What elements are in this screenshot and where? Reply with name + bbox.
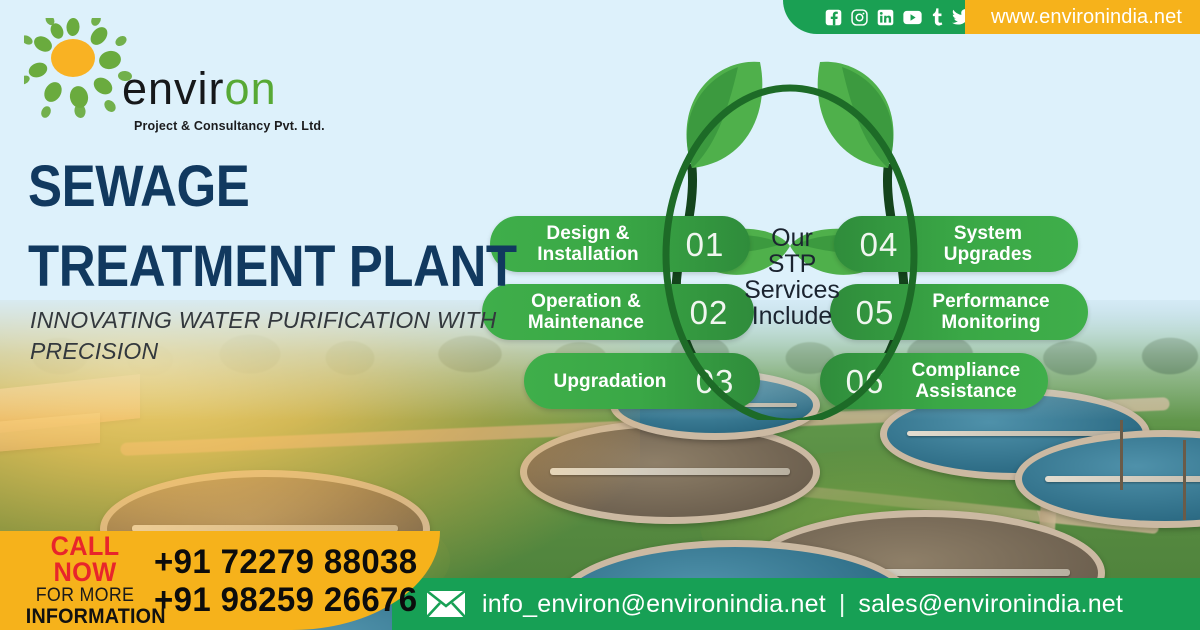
phone-number-1[interactable]: +91 72279 88038 — [154, 543, 418, 581]
page-subtitle: INNOVATING WATER PURIFICATION WITH PRECI… — [30, 305, 500, 367]
photo-utility-pole — [1183, 440, 1186, 520]
service-item-06[interactable]: 06 Compliance Assistance — [820, 353, 1048, 409]
email-bar: info_environ@environindia.net | sales@en… — [392, 578, 1200, 630]
service-label-03: Upgradation — [538, 371, 682, 392]
for-more-label: FOR MORE — [26, 585, 144, 606]
banner-root: www.environindia.net — [0, 0, 1200, 630]
page-title: SEWAGE TREATMENT PLANT — [28, 158, 583, 296]
topbar: www.environindia.net — [783, 0, 1200, 34]
brand-logo[interactable]: environ Project & Consultancy Pvt. Ltd. — [24, 18, 294, 133]
website-url[interactable]: www.environindia.net — [965, 0, 1200, 34]
service-item-04[interactable]: 04 System Upgrades — [834, 216, 1078, 272]
email-address-2[interactable]: sales@environindia.net — [858, 590, 1123, 619]
website-url-text: www.environindia.net — [991, 6, 1182, 29]
service-number-06: 06 — [832, 365, 898, 398]
call-now-block: CALL NOW FOR MORE INFORMATION +91 72279 … — [0, 531, 440, 630]
social-links — [783, 0, 989, 34]
call-now-label: CALL NOW — [26, 533, 144, 585]
information-label: INFORMATION — [26, 606, 144, 628]
phone-numbers: +91 72279 88038 +91 98259 26676 — [154, 543, 426, 619]
page-title-line2: TREATMENT PLANT — [28, 238, 517, 296]
envelope-icon — [426, 590, 466, 618]
page-title-line1: SEWAGE — [28, 158, 517, 216]
service-label-04: System Upgrades — [912, 223, 1064, 265]
service-item-03[interactable]: Upgradation 03 — [524, 353, 760, 409]
service-label-05: Performance Monitoring — [908, 291, 1074, 333]
instagram-icon[interactable] — [851, 9, 868, 26]
sun-leaf-logo-icon — [24, 18, 134, 118]
logo-wordmark: environ — [122, 66, 277, 111]
logo-word-dark: envir — [122, 63, 225, 114]
logo-word-green: on — [225, 63, 277, 114]
service-label-06: Compliance Assistance — [898, 360, 1034, 402]
photo-utility-pole — [1120, 420, 1123, 490]
youtube-icon[interactable] — [903, 9, 922, 26]
services-center-heading: Our STP Services Include — [718, 225, 866, 329]
service-label-02: Operation & Maintenance — [496, 291, 676, 333]
email-address-1[interactable]: info_environ@environindia.net — [482, 590, 826, 619]
service-number-03: 03 — [682, 365, 748, 398]
phone-number-2[interactable]: +91 98259 26676 — [154, 581, 418, 619]
email-separator: | — [839, 590, 846, 619]
facebook-icon[interactable] — [825, 9, 842, 26]
linkedin-icon[interactable] — [877, 9, 894, 26]
call-now-stack: CALL NOW FOR MORE INFORMATION — [0, 533, 148, 628]
service-item-05[interactable]: 05 Performance Monitoring — [830, 284, 1088, 340]
logo-tagline: Project & Consultancy Pvt. Ltd. — [134, 119, 325, 133]
tumblr-icon[interactable] — [931, 8, 943, 26]
